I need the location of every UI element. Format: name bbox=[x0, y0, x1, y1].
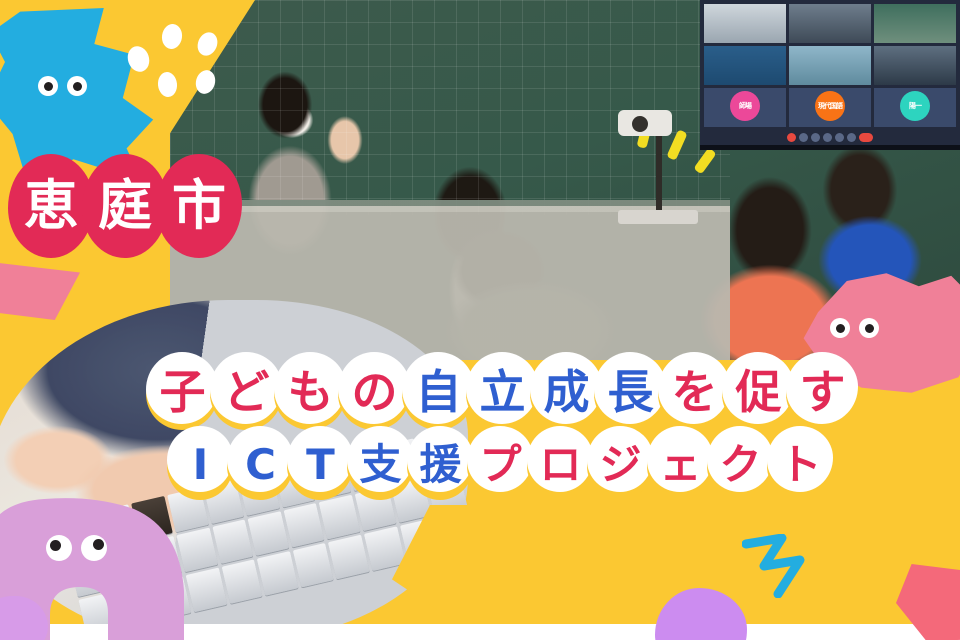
headline-glyph-text: 援 bbox=[419, 444, 460, 486]
eye-left bbox=[46, 535, 72, 561]
headline-glyph: 立 bbox=[466, 352, 538, 432]
participant-avatar: 現代国語 bbox=[815, 91, 845, 121]
participants-icon[interactable] bbox=[823, 133, 832, 142]
headline-glyph: 援 bbox=[407, 426, 473, 504]
headline-glyph: ジ bbox=[587, 426, 653, 504]
headline-glyph: す bbox=[786, 352, 858, 432]
blue-blob-eyes bbox=[38, 76, 87, 96]
video-tile: 師場 bbox=[704, 88, 786, 127]
key bbox=[364, 526, 405, 571]
video-tile bbox=[704, 4, 786, 43]
dot bbox=[124, 43, 152, 74]
eye-right bbox=[81, 535, 107, 561]
document-camera-base bbox=[618, 210, 698, 224]
headline-glyph: ど bbox=[210, 352, 282, 432]
share-icon[interactable] bbox=[811, 133, 820, 142]
document-camera-pole bbox=[656, 132, 662, 218]
headline-glyph-text: も bbox=[288, 369, 333, 415]
headline-line-1: 子どもの自立成長を促す bbox=[0, 352, 960, 432]
eniwa-city-badge: 恵 庭 市 bbox=[8, 150, 230, 262]
headline-glyph-text: プ bbox=[479, 444, 520, 486]
video-icon[interactable] bbox=[799, 133, 808, 142]
document-camera-head bbox=[618, 110, 672, 136]
mute-icon[interactable] bbox=[787, 133, 796, 142]
headline-glyph-text: T bbox=[306, 444, 334, 486]
video-tile bbox=[789, 4, 871, 43]
headline-glyph: C bbox=[227, 426, 293, 504]
headline: 子どもの自立成長を促す ICT支援プロジェクト bbox=[0, 352, 960, 504]
headline-glyph: も bbox=[274, 352, 346, 432]
video-tile: 現代国語 bbox=[789, 88, 871, 127]
headline-glyph: 成 bbox=[530, 352, 602, 432]
headline-glyph: 支 bbox=[347, 426, 413, 504]
key bbox=[257, 551, 298, 596]
headline-glyph: ェ bbox=[647, 426, 713, 504]
eye-left bbox=[830, 318, 850, 338]
headline-glyph: プ bbox=[467, 426, 533, 504]
headline-line-2: ICT支援プロジェクト bbox=[0, 426, 960, 504]
headline-glyph: を bbox=[658, 352, 730, 432]
pink-blob-eyes bbox=[830, 318, 879, 338]
key bbox=[283, 503, 324, 548]
camera-lens-icon bbox=[632, 116, 648, 132]
key bbox=[176, 528, 217, 573]
headline-glyph: 長 bbox=[594, 352, 666, 432]
headline-glyph: 自 bbox=[402, 352, 474, 432]
eye-left bbox=[38, 76, 58, 96]
headline-glyph-text: 促 bbox=[736, 369, 781, 415]
headline-glyph-text: ど bbox=[224, 369, 269, 415]
headline-glyph-text: す bbox=[800, 369, 845, 415]
call-control-bar[interactable] bbox=[787, 133, 873, 142]
poster-canvas: 師場 現代国語 陽一 bbox=[0, 0, 960, 640]
participant-avatar: 陽一 bbox=[900, 91, 930, 121]
video-tile bbox=[789, 46, 871, 85]
participant-avatar: 師場 bbox=[730, 91, 760, 121]
document-camera bbox=[610, 110, 700, 220]
headline-glyph: I bbox=[167, 426, 233, 504]
chat-icon[interactable] bbox=[835, 133, 844, 142]
blue-zigzag-icon bbox=[742, 534, 828, 598]
video-call-monitor: 師場 現代国語 陽一 bbox=[700, 0, 960, 150]
headline-glyph-text: ジ bbox=[599, 444, 640, 486]
headline-glyph-text: を bbox=[672, 369, 717, 415]
key bbox=[186, 568, 227, 613]
eye-right bbox=[859, 318, 879, 338]
headline-glyph-text: 子 bbox=[160, 369, 205, 415]
headline-glyph-text: 立 bbox=[480, 369, 525, 415]
headline-glyph-text: ェ bbox=[659, 444, 700, 486]
headline-glyph-text: 自 bbox=[416, 369, 461, 415]
dot bbox=[157, 71, 179, 98]
badge-char: 市 bbox=[156, 154, 242, 258]
headline-glyph-text: 長 bbox=[608, 369, 653, 415]
end-call-icon[interactable] bbox=[859, 133, 873, 142]
more-icon[interactable] bbox=[847, 133, 856, 142]
headline-glyph-text: ク bbox=[719, 444, 760, 486]
key bbox=[221, 559, 262, 604]
badge-char-text: 恵 bbox=[24, 179, 78, 233]
dot bbox=[194, 29, 221, 58]
headline-glyph-text: の bbox=[352, 369, 397, 415]
video-tile: 陽一 bbox=[874, 88, 956, 127]
headline-glyph: ク bbox=[707, 426, 773, 504]
key bbox=[212, 519, 253, 564]
headline-glyph-text: I bbox=[193, 444, 208, 486]
key bbox=[248, 511, 289, 556]
headline-glyph: T bbox=[287, 426, 353, 504]
headline-glyph-text: ロ bbox=[539, 444, 580, 486]
headline-glyph: ト bbox=[767, 426, 833, 504]
key bbox=[328, 535, 369, 580]
badge-char-text: 市 bbox=[172, 179, 226, 233]
headline-glyph-text: 支 bbox=[359, 444, 400, 486]
dot bbox=[160, 23, 183, 51]
headline-glyph-text: 成 bbox=[544, 369, 589, 415]
video-tile bbox=[874, 46, 956, 85]
video-tile bbox=[874, 4, 956, 43]
eye-right bbox=[67, 76, 87, 96]
white-dots-cluster bbox=[128, 22, 238, 112]
headline-glyph: の bbox=[338, 352, 410, 432]
dot bbox=[193, 68, 218, 96]
purple-arch-eyes bbox=[46, 535, 107, 561]
video-tile bbox=[704, 46, 786, 85]
headline-glyph: 促 bbox=[722, 352, 794, 432]
headline-glyph: ロ bbox=[527, 426, 593, 504]
key bbox=[293, 543, 334, 588]
headline-glyph: 子 bbox=[146, 352, 218, 432]
headline-glyph-text: ト bbox=[779, 444, 820, 486]
headline-glyph-text: C bbox=[245, 444, 275, 486]
badge-char-text: 庭 bbox=[98, 179, 152, 233]
